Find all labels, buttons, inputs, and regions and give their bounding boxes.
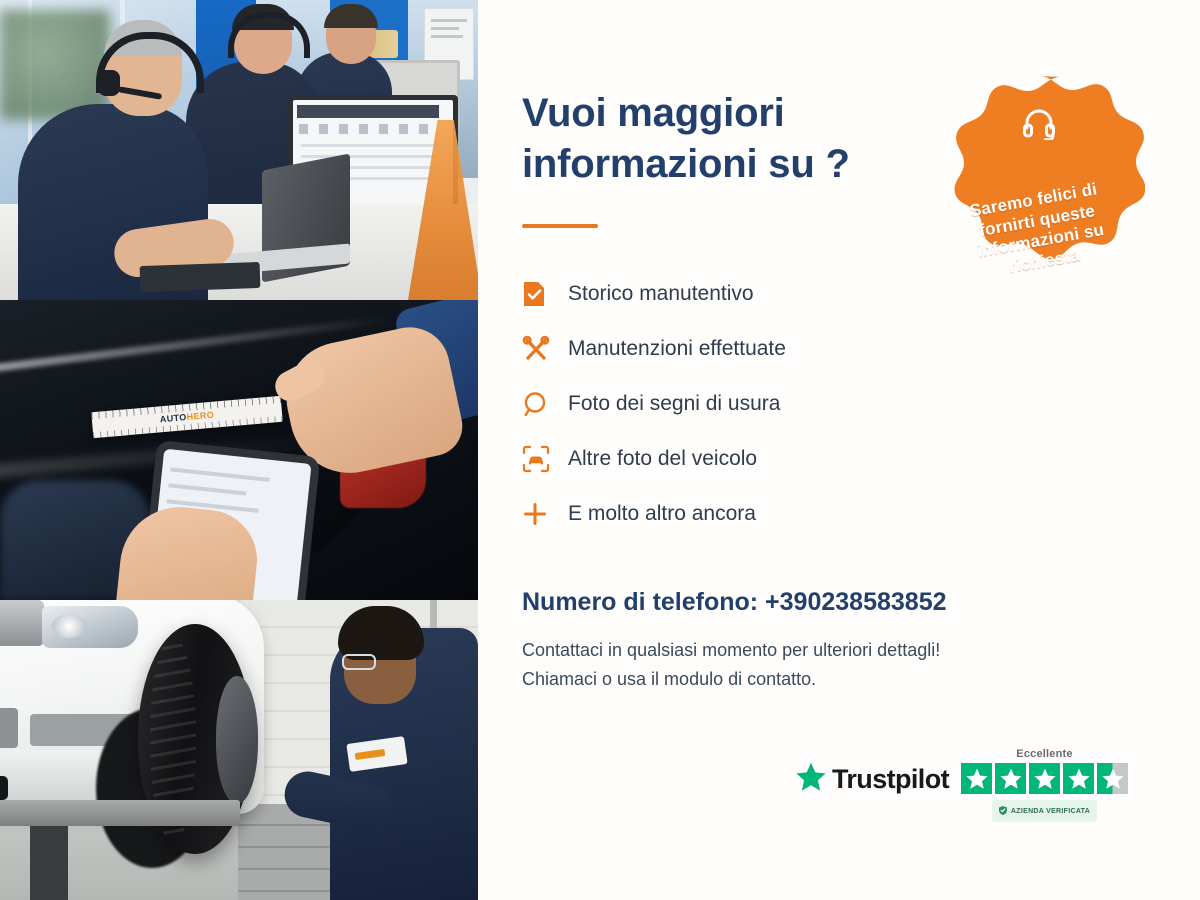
headset-icon	[1022, 108, 1056, 145]
star-tile-half	[1097, 763, 1128, 794]
wrist-watch	[0, 776, 8, 800]
desk-papers	[140, 262, 261, 292]
plus-icon	[522, 501, 568, 527]
car-grille	[0, 600, 44, 646]
magnifier-icon	[522, 390, 568, 418]
lift-support	[30, 826, 68, 900]
shield-check-icon	[999, 802, 1007, 820]
promo-banner: AUTOHERO	[0, 0, 1200, 900]
phone-heading: Numero di telefono: +390238583852	[522, 588, 1082, 617]
phone-description-line-1: Contattaci in qualsiasi momento per ulte…	[522, 636, 1102, 665]
trustpilot-star-icon	[796, 762, 826, 796]
verified-badge: AZIENDA VERIFICATA	[992, 800, 1097, 822]
document-check-icon	[522, 280, 568, 308]
feature-list: Storico manutentivo Manutenzioni effettu…	[522, 266, 952, 541]
trustpilot-widget[interactable]: Trustpilot Eccellente	[796, 748, 1128, 822]
verified-label: AZIENDA VERIFICATA	[1011, 808, 1090, 815]
star-tile	[1063, 763, 1094, 794]
car-headlight	[42, 606, 138, 648]
star-tile	[1029, 763, 1060, 794]
feature-item-manutenzioni: Manutenzioni effettuate	[522, 321, 952, 376]
feature-item-altro: E molto altro ancora	[522, 486, 952, 541]
phone-description-line-2: Chiamaci o usa il modulo di contatto.	[522, 665, 1102, 694]
star-tile	[995, 763, 1026, 794]
ruler-brand-bottom: HERO	[186, 410, 214, 422]
ruler-brand-top: AUTO	[159, 412, 187, 424]
trustpilot-rating: Eccellente	[961, 748, 1128, 822]
lift-platform	[0, 800, 240, 826]
feature-item-foto-usura: Foto dei segni di usura	[522, 376, 952, 431]
car-scan-icon	[522, 445, 568, 473]
uniform-logo-badge	[346, 736, 407, 772]
phone-description: Contattaci in qualsiasi momento per ulte…	[522, 636, 1102, 694]
star-tile	[961, 763, 992, 794]
feature-label: Storico manutentivo	[568, 282, 754, 306]
feature-item-altre-foto: Altre foto del veicolo	[522, 431, 952, 486]
feature-item-storico: Storico manutentivo	[522, 266, 952, 321]
rating-label: Eccellente	[1016, 748, 1072, 760]
headline-line-2: informazioni su ?	[522, 139, 952, 190]
mechanic	[330, 628, 478, 900]
call-center-agents-photo	[0, 0, 478, 300]
wheel-inspection-photo	[0, 600, 478, 900]
content-panel: Vuoi maggiori informazioni su ? Saremo f…	[478, 0, 1200, 900]
feature-label: Foto dei segni di usura	[568, 392, 780, 416]
vehicle-inspection-ruler-photo: AUTOHERO	[0, 300, 478, 600]
tools-cross-icon	[522, 335, 568, 363]
callout-badge: Saremo felici di fornirti queste informa…	[933, 72, 1145, 297]
headline-line-1: Vuoi maggiori	[522, 88, 952, 139]
trustpilot-logo: Trustpilot	[796, 762, 949, 796]
car-side-intake	[0, 708, 18, 748]
feature-label: Manutenzioni effettuate	[568, 337, 786, 361]
feature-label: Altre foto del veicolo	[568, 447, 757, 471]
trustpilot-wordmark: Trustpilot	[832, 764, 949, 795]
star-rating	[961, 763, 1128, 794]
photo-collage: AUTOHERO	[0, 0, 478, 900]
page-title: Vuoi maggiori informazioni su ?	[522, 88, 952, 190]
title-divider	[522, 224, 598, 228]
feature-label: E molto altro ancora	[568, 502, 756, 526]
